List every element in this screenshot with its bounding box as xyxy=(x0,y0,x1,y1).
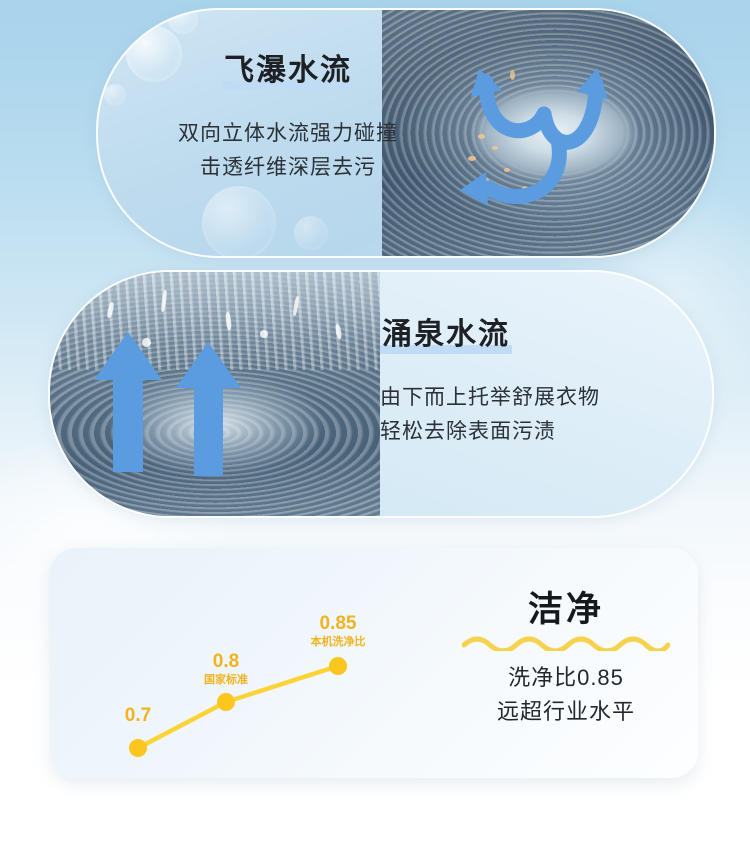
up-arrow-icon xyxy=(50,272,380,516)
feature-desc-spring-line2: 轻松去除表面污渍 xyxy=(380,415,712,449)
bubble-decoration-icon xyxy=(202,186,276,258)
chart-point-2 xyxy=(329,657,347,675)
splash-water-photo xyxy=(50,272,380,516)
feature-title-waterfall-label: 飞瀑水流 xyxy=(224,54,352,87)
chart-label-point-2: 0.85 本机洗净比 xyxy=(296,614,380,649)
feature-card-waterfall-flow: 飞瀑水流 双向立体水流强力碰撞 击透纤维深层去污 xyxy=(96,8,716,258)
clean-subtitle-line1: 洗净比0.85 xyxy=(446,661,686,695)
feature-card-spring-text: 涌泉水流 由下而上托举舒展衣物 轻松去除表面污渍 xyxy=(380,318,712,449)
feature-card-waterfall-text: 飞瀑水流 双向立体水流强力碰撞 击透纤维深层去污 xyxy=(98,54,478,185)
chart-label-point-0-value: 0.7 xyxy=(102,706,174,726)
bubble-decoration-icon xyxy=(102,222,142,258)
promo-page: 飞瀑水流 双向立体水流强力碰撞 击透纤维深层去污 xyxy=(0,0,750,864)
bubble-decoration-icon xyxy=(294,216,328,250)
wash-ratio-line-chart: 0.7 0.8 国家标准 0.85 本机洗净比 xyxy=(58,556,438,770)
chart-label-point-1: 0.8 国家标准 xyxy=(190,652,262,687)
bubble-decoration-icon xyxy=(168,8,198,34)
feature-title-spring-label: 涌泉水流 xyxy=(382,318,510,351)
chart-label-point-0: 0.7 xyxy=(102,706,174,727)
feature-card-spring-flow: 涌泉水流 由下而上托举舒展衣物 轻松去除表面污渍 xyxy=(48,270,714,518)
feature-desc-waterfall-line1: 双向立体水流强力碰撞 xyxy=(98,117,478,151)
chart-point-0 xyxy=(129,739,147,757)
feature-desc-waterfall-line2: 击透纤维深层去污 xyxy=(98,151,478,185)
feature-desc-spring: 由下而上托举舒展衣物 轻松去除表面污渍 xyxy=(380,381,712,449)
chart-point-1 xyxy=(217,693,235,711)
clean-performance-card: 0.7 0.8 国家标准 0.85 本机洗净比 洁净 洗净比0.85 远超行业 xyxy=(50,548,698,778)
chart-label-point-2-name: 本机洗净比 xyxy=(296,635,380,649)
wavy-underline-icon xyxy=(462,635,670,651)
clean-text-block: 洁净 洗净比0.85 远超行业水平 xyxy=(446,592,686,729)
chart-label-point-1-name: 国家标准 xyxy=(190,673,262,687)
feature-title-spring: 涌泉水流 xyxy=(380,318,512,355)
clean-title: 洁净 xyxy=(446,592,686,629)
feature-title-waterfall: 飞瀑水流 xyxy=(222,54,354,91)
clean-subtitle-line2: 远超行业水平 xyxy=(446,695,686,729)
chart-label-point-1-value: 0.8 xyxy=(190,652,262,672)
chart-label-point-2-value: 0.85 xyxy=(296,614,380,634)
feature-desc-waterfall: 双向立体水流强力碰撞 击透纤维深层去污 xyxy=(98,117,478,185)
clean-subtitle: 洗净比0.85 远超行业水平 xyxy=(446,661,686,729)
feature-desc-spring-line1: 由下而上托举舒展衣物 xyxy=(380,381,712,415)
